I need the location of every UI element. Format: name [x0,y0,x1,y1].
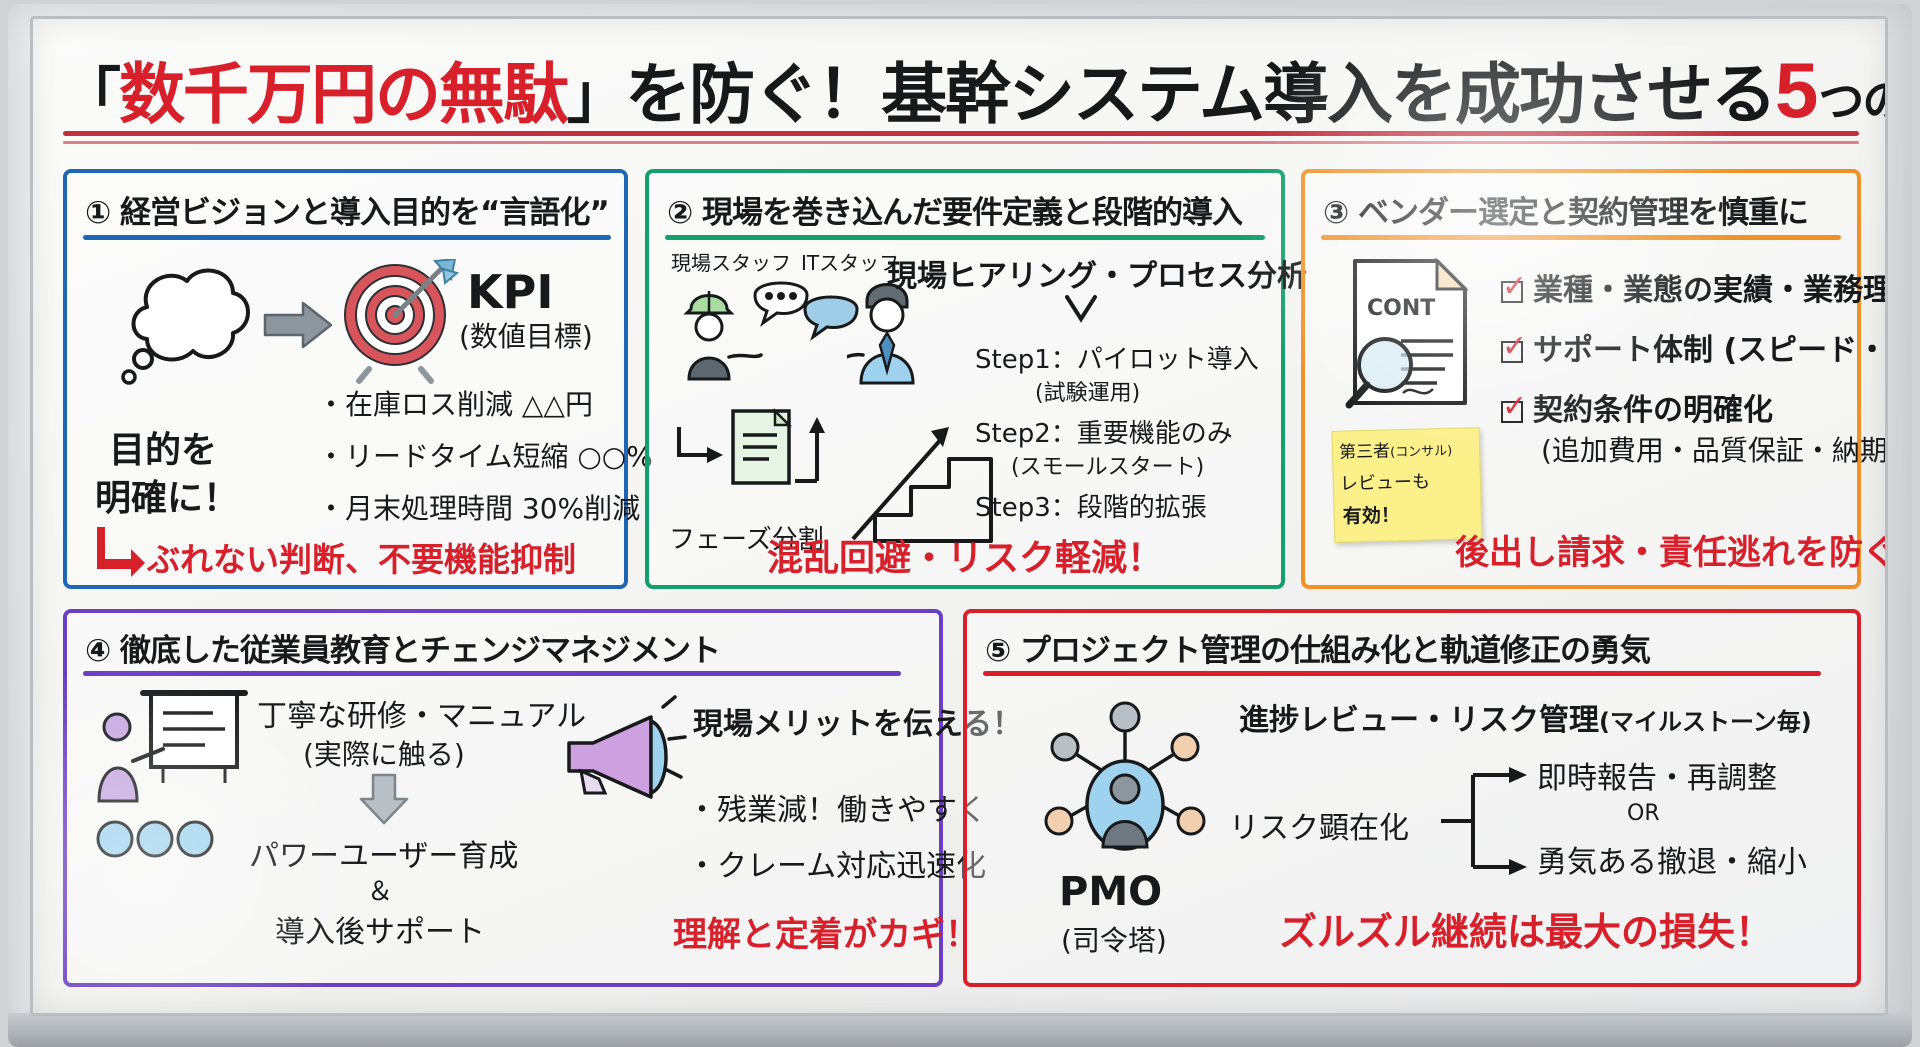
panel-5-risk-label: リスク顕在化 [1229,803,1409,847]
title-open-quote: 「 [61,62,119,132]
panel-2-number: ② [667,195,692,231]
panel-4-right-bullet-0: ・残業減！働きやすく [687,785,987,829]
panel-1-footer-arrow-icon [95,525,147,581]
panel-1-heading: ① 経営ビジョンと導入目的を“言語化” [85,187,609,232]
panel-3-title: ベンダー選定と契約管理を慎重に [1358,195,1808,231]
panel-4-left-3: ＆ [367,871,393,908]
sticky-line-1: 第三者(コンサル) [1339,435,1453,463]
panel-4-left-0: 丁寧な研修・マニュアル [257,691,586,735]
panel-1-purpose-line1: 目的を [109,421,217,473]
down-arrow-icon [357,773,411,827]
panel-5-number: ⑤ [985,633,1010,669]
panel-4-training: ④ 徹底した従業員教育とチェンジマネジメント 丁寧な研修・マニュアル (実際に [63,609,943,987]
panel-4-left-4: 導入後サポート [275,907,485,951]
panel-4-heading: ④ 徹底した従業員教育とチェンジマネジメント [85,625,720,670]
trainer-whiteboard-icon [93,687,253,827]
title-middle: を防ぐ！基幹システム導入を成功させる [625,56,1775,133]
sticky-line-3: 有効！ [1342,500,1400,528]
panel-5-pm: ⑤ プロジェクト管理の仕組み化と軌道修正の勇気 PMO (司令塔) [963,609,1861,987]
panel-5-pmo-sub: (司令塔) [1061,919,1167,959]
panel-5-right-heading: 進捗レビュー・リスク管理(マイルストーン毎) [1239,695,1812,739]
panel-1-footer: ぶれない判断、不要機能抑制 [147,533,576,581]
panel-1-purpose-line2: 明確に！ [95,469,239,521]
panel-3-check-2: 契約条件の明確化 [1501,385,1773,429]
panel-2-footer: 混乱回避・リスク軽減！ [767,529,1163,581]
panel-1-vision: ① 経営ビジョンと導入目的を“言語化” [63,169,628,589]
panel-2-right-heading: 現場ヒアリング・プロセス分析 [887,251,1307,295]
panel-4-footer: 理解と定着がカギ！ [673,907,979,956]
panel-5-branch-top: 即時報告・再調整 [1537,753,1777,797]
panel-3-rule [1321,235,1841,240]
contract-magnifier-icon: CONT [1341,255,1491,420]
panel-2-step-2: Step3：段階的拡張 [975,487,1207,524]
panel-5-branch-bottom: 勇気ある撤退・縮小 [1537,837,1807,881]
panel-5-footer: ズルズル継続は最大の損失！ [1279,901,1773,956]
panel-4-left-2: パワーユーザー育成 [249,831,518,875]
target-dartboard-icon [339,259,459,384]
panel-3-check-0: 業種・業態の実績・業務理解 [1501,265,1888,309]
panel-3-number: ③ [1323,195,1348,231]
panel-4-number: ④ [85,633,110,669]
panel-1-bullet-0: ・在庫ロス削減 △△円 [317,383,593,423]
thought-cloud-icon [107,255,267,390]
panel-2-requirements: ② 現場を巻き込んだ要件定義と段階的導入 現場スタッフ ITスタッフ [645,169,1285,589]
panel-1-bullet-1: ・リードタイム短縮 ○○% [317,435,653,475]
panel-5-rule [983,671,1821,676]
panel-5-title: プロジェクト管理の仕組み化と軌道修正の勇気 [1020,633,1650,669]
audience-icons [93,809,263,869]
checkbox-checked-icon[interactable] [1501,341,1523,363]
title-underline-secondary [63,141,1859,144]
whiteboard-pen-tray [8,1013,1912,1047]
panel-2-rule [665,235,1265,240]
panel-3-check-1: サポート体制 (スピード・教育) [1501,325,1888,369]
title-underline-primary [63,131,1859,136]
panel-2-step-0: Step1：パイロット導入 [975,339,1259,376]
panel-4-right-bullet-1: ・クレーム対応迅速化 [687,841,986,885]
right-arrow-icon [263,299,335,351]
panel-2-step-1-sub: (スモールスタート) [1011,449,1204,481]
title-number-five: 5 [1775,46,1818,134]
panel-3-heading: ③ ベンダー選定と契約管理を慎重に [1323,187,1808,232]
down-chevron-icon [1061,291,1101,333]
panel-1-bullet-2: ・月末処理時間 30%削減 [317,487,640,527]
title-highlight: 数千万円の無駄 [119,56,567,133]
panel-3-check-2-sub: (追加費用・品質保証・納期) [1541,429,1888,469]
checkbox-checked-icon[interactable] [1501,281,1523,303]
title-tsuno: つの [1818,74,1888,128]
panel-2-heading: ② 現場を巻き込んだ要件定義と段階的導入 [667,187,1242,232]
panel-1-kpi-sub: (数値目標) [459,315,593,355]
branch-arrow-icon [1439,755,1549,885]
panel-2-step-0-sub: (試験運用) [1035,375,1140,407]
title-close-quote: 」 [567,62,625,132]
sticky-line-2: レビューも [1340,467,1431,495]
pmo-network-icon [1035,689,1215,867]
panel-3-vendor: ③ ベンダー選定と契約管理を慎重に CONT 業種・業態の実績・業務理解 サポー… [1301,169,1861,589]
whiteboard-surface: 「数千万円の無駄」を防ぐ！基幹システム導入を成功させる5つの実践ポイント ① 経… [30,16,1888,1016]
panel-2-title: 現場を巻き込んだ要件定義と段階的導入 [702,195,1242,231]
panel-1-rule [83,235,611,240]
panel-2-step-1: Step2：重要機能のみ [975,413,1233,450]
panel-3-doc-label: CONT [1367,296,1435,321]
panel-4-title: 徹底した従業員教育とチェンジマネジメント [120,633,720,669]
panel-4-rule [83,671,901,676]
page-title: 「数千万円の無駄」を防ぐ！基幹システム導入を成功させる5つの実践ポイント [61,45,1861,136]
panel-1-kpi-label: KPI [467,265,553,319]
panel-5-heading: ⑤ プロジェクト管理の仕組み化と軌道修正の勇気 [985,625,1650,670]
panel-1-number: ① [85,195,110,231]
panel-5-branch-or: OR [1627,801,1660,826]
panel-1-title: 経営ビジョンと導入目的を“言語化” [120,195,609,231]
panel-3-footer: 後出し請求・責任逃れを防ぐ [1455,525,1888,574]
panel-4-left-1: (実際に触る) [303,733,465,773]
checkbox-checked-icon[interactable] [1501,401,1523,423]
panel-5-pmo-label: PMO [1059,869,1162,915]
megaphone-icon [559,695,689,805]
